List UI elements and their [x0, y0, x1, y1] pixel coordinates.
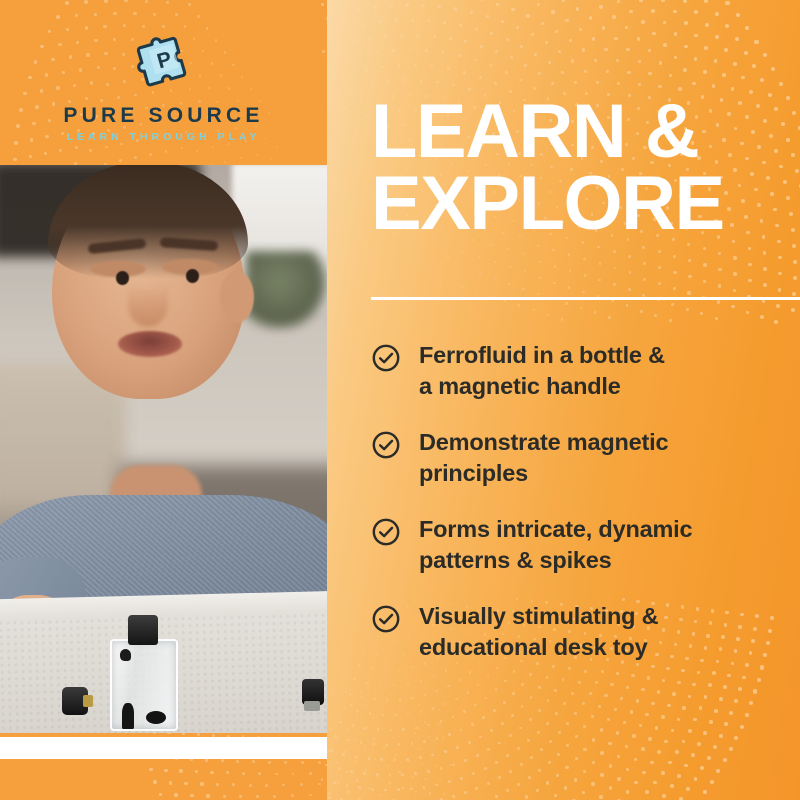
photo-ferrofluid-droplet	[120, 649, 131, 661]
feature-text-line-1: Forms intricate, dynamic	[419, 516, 692, 542]
feature-text: Forms intricate, dynamic patterns & spik…	[419, 514, 692, 575]
feature-item-1: Ferrofluid in a bottle & a magnetic hand…	[371, 340, 791, 401]
photo-ferrofluid-blob	[146, 711, 166, 724]
feature-text-line-1: Ferrofluid in a bottle &	[419, 342, 665, 368]
bottom-white-bar	[0, 737, 327, 759]
photo-magnetic-handle-right	[302, 679, 324, 705]
brand-header: P PURE SOURCE LEARN THROUGH PLAY	[0, 28, 327, 143]
puzzle-box-p-logo-icon: P	[133, 28, 195, 90]
check-circle-icon	[371, 343, 401, 373]
headline-line-2: EXPLORE	[371, 168, 791, 240]
check-circle-icon	[371, 430, 401, 460]
photo-boy-nose	[128, 283, 168, 327]
feature-list: Ferrofluid in a bottle & a magnetic hand…	[371, 340, 791, 662]
check-circle-icon	[371, 517, 401, 547]
title-divider	[371, 297, 800, 300]
photo-boy-pupil-right	[186, 269, 199, 283]
brand-name: PURE SOURCE	[0, 104, 327, 128]
feature-text: Ferrofluid in a bottle & a magnetic hand…	[419, 340, 665, 401]
feature-text-line-2: a magnetic handle	[419, 373, 621, 399]
feature-text-line-2: principles	[419, 460, 528, 486]
photo-boy-ear	[220, 271, 254, 323]
feature-text: Visually stimulating & educational desk …	[419, 601, 658, 662]
photo-bottle-cap	[128, 615, 158, 645]
photo-boy-mouth	[118, 331, 182, 357]
feature-text: Demonstrate magnetic principles	[419, 427, 668, 488]
promo-poster: P PURE SOURCE LEARN THROUGH PLAY LEARN &…	[0, 0, 800, 800]
feature-text-line-1: Visually stimulating &	[419, 603, 658, 629]
headline-line-1: LEARN &	[371, 96, 791, 168]
brand-tagline: LEARN THROUGH PLAY	[0, 131, 327, 143]
page-title: LEARN & EXPLORE	[371, 96, 791, 240]
feature-item-3: Forms intricate, dynamic patterns & spik…	[371, 514, 791, 575]
feature-item-4: Visually stimulating & educational desk …	[371, 601, 791, 662]
photo-magnetic-handle-left	[62, 687, 88, 715]
content-column: LEARN & EXPLORE Ferrofluid in a bottle &…	[371, 0, 800, 800]
photo-ferrofluid-spike	[122, 703, 134, 729]
product-photo	[0, 165, 327, 733]
check-circle-icon	[371, 604, 401, 634]
feature-text-line-2: educational desk toy	[419, 634, 647, 660]
photo-plant	[246, 251, 327, 329]
feature-text-line-1: Demonstrate magnetic	[419, 429, 668, 455]
feature-item-2: Demonstrate magnetic principles	[371, 427, 791, 488]
feature-text-line-2: patterns & spikes	[419, 547, 612, 573]
